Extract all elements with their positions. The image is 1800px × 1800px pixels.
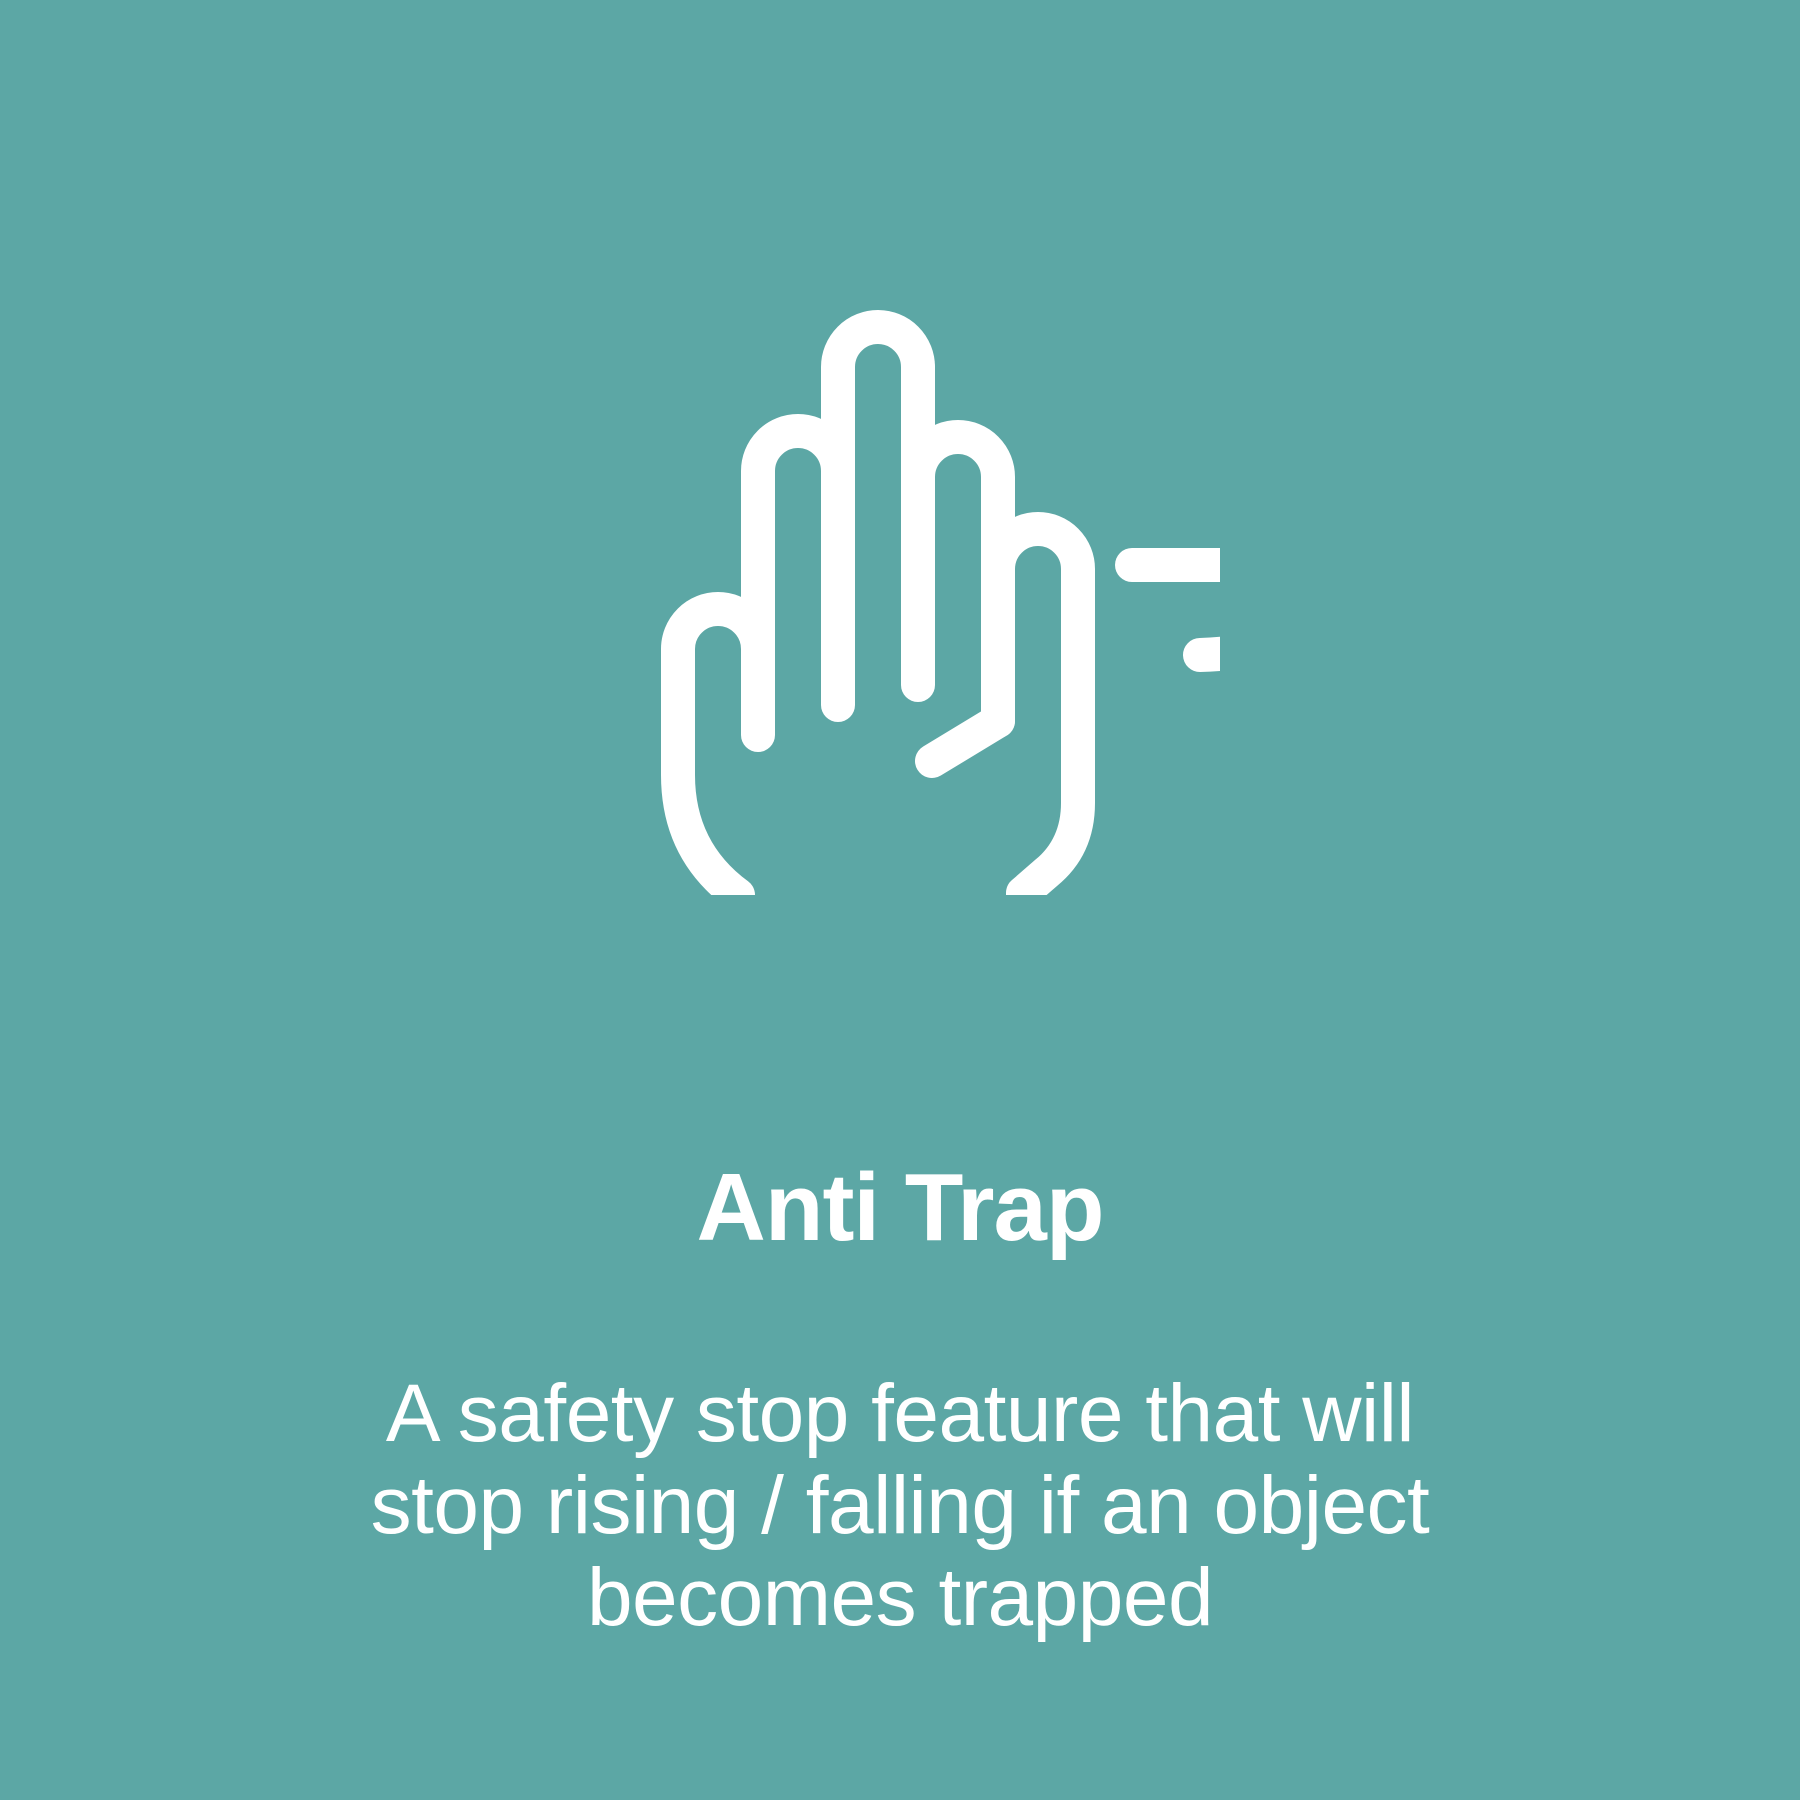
cup-body-path (1200, 565, 1220, 895)
hand-thumb-notch-path (932, 569, 998, 761)
hand-palm-outline-path (678, 675, 738, 895)
cup-inner-curve-path (1200, 585, 1220, 655)
hand-stop-anti-trap-icon (580, 255, 1220, 895)
feature-description: A safety stop feature that will stop ris… (225, 1368, 1575, 1643)
feature-card: Anti Trap A safety stop feature that wil… (0, 0, 1800, 1800)
page-title: Anti Trap (0, 1160, 1800, 1256)
anti-trap-icon-container (0, 255, 1800, 895)
